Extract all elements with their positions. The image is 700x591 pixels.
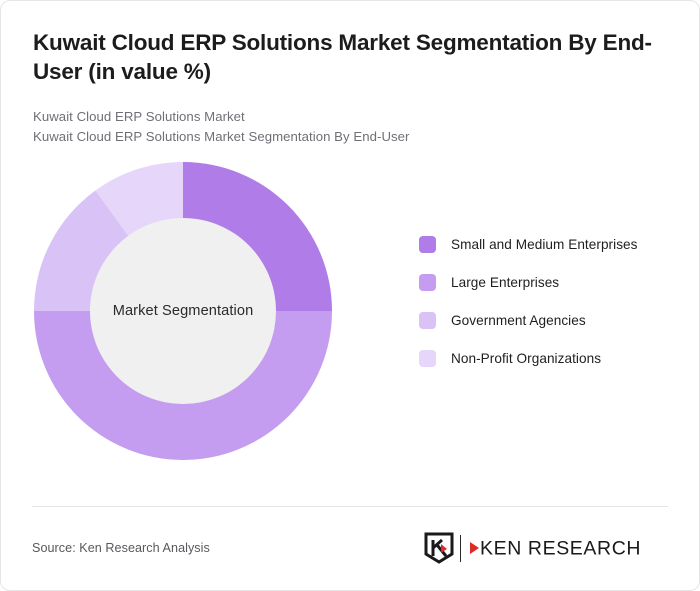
legend-swatch-icon — [419, 274, 436, 291]
logo-wordmark-text: KEN RESEARCH — [480, 538, 641, 560]
subtitle-segmentation: Kuwait Cloud ERP Solutions Market Segmen… — [33, 127, 667, 147]
legend-swatch-icon — [419, 312, 436, 329]
ken-research-wordmark: KEN RESEARCH — [468, 535, 668, 561]
chart-header: Kuwait Cloud ERP Solutions Market Segmen… — [1, 1, 699, 148]
source-note: Source: Ken Research Analysis — [32, 541, 210, 555]
donut-chart: Market Segmentation — [34, 162, 332, 460]
logo-accent-triangle-icon — [470, 542, 479, 554]
legend-label: Government Agencies — [451, 313, 586, 328]
ken-research-logo: KEN RESEARCH — [424, 532, 669, 564]
chart-footer: Source: Ken Research Analysis KEN RESEAR… — [1, 525, 699, 571]
legend-swatch-icon — [419, 236, 436, 253]
chart-legend: Small and Medium EnterprisesLarge Enterp… — [419, 226, 684, 378]
legend-item[interactable]: Government Agencies — [419, 302, 684, 340]
legend-label: Small and Medium Enterprises — [451, 237, 638, 252]
legend-item[interactable]: Large Enterprises — [419, 264, 684, 302]
donut-hole — [90, 218, 276, 404]
subtitle-market: Kuwait Cloud ERP Solutions Market — [33, 107, 667, 127]
footer-divider — [32, 506, 668, 507]
legend-label: Non-Profit Organizations — [451, 351, 601, 366]
donut-svg — [34, 162, 332, 460]
ken-research-shield-k-icon — [424, 532, 454, 564]
logo-separator — [460, 535, 462, 562]
legend-label: Large Enterprises — [451, 275, 559, 290]
legend-item[interactable]: Small and Medium Enterprises — [419, 226, 684, 264]
page-title: Kuwait Cloud ERP Solutions Market Segmen… — [33, 29, 667, 87]
subtitle-group: Kuwait Cloud ERP Solutions Market Kuwait… — [33, 107, 667, 148]
legend-item[interactable]: Non-Profit Organizations — [419, 340, 684, 378]
chart-body: Market Segmentation Small and Medium Ent… — [1, 148, 699, 478]
chart-card: Kuwait Cloud ERP Solutions Market Segmen… — [0, 0, 700, 591]
legend-swatch-icon — [419, 350, 436, 367]
